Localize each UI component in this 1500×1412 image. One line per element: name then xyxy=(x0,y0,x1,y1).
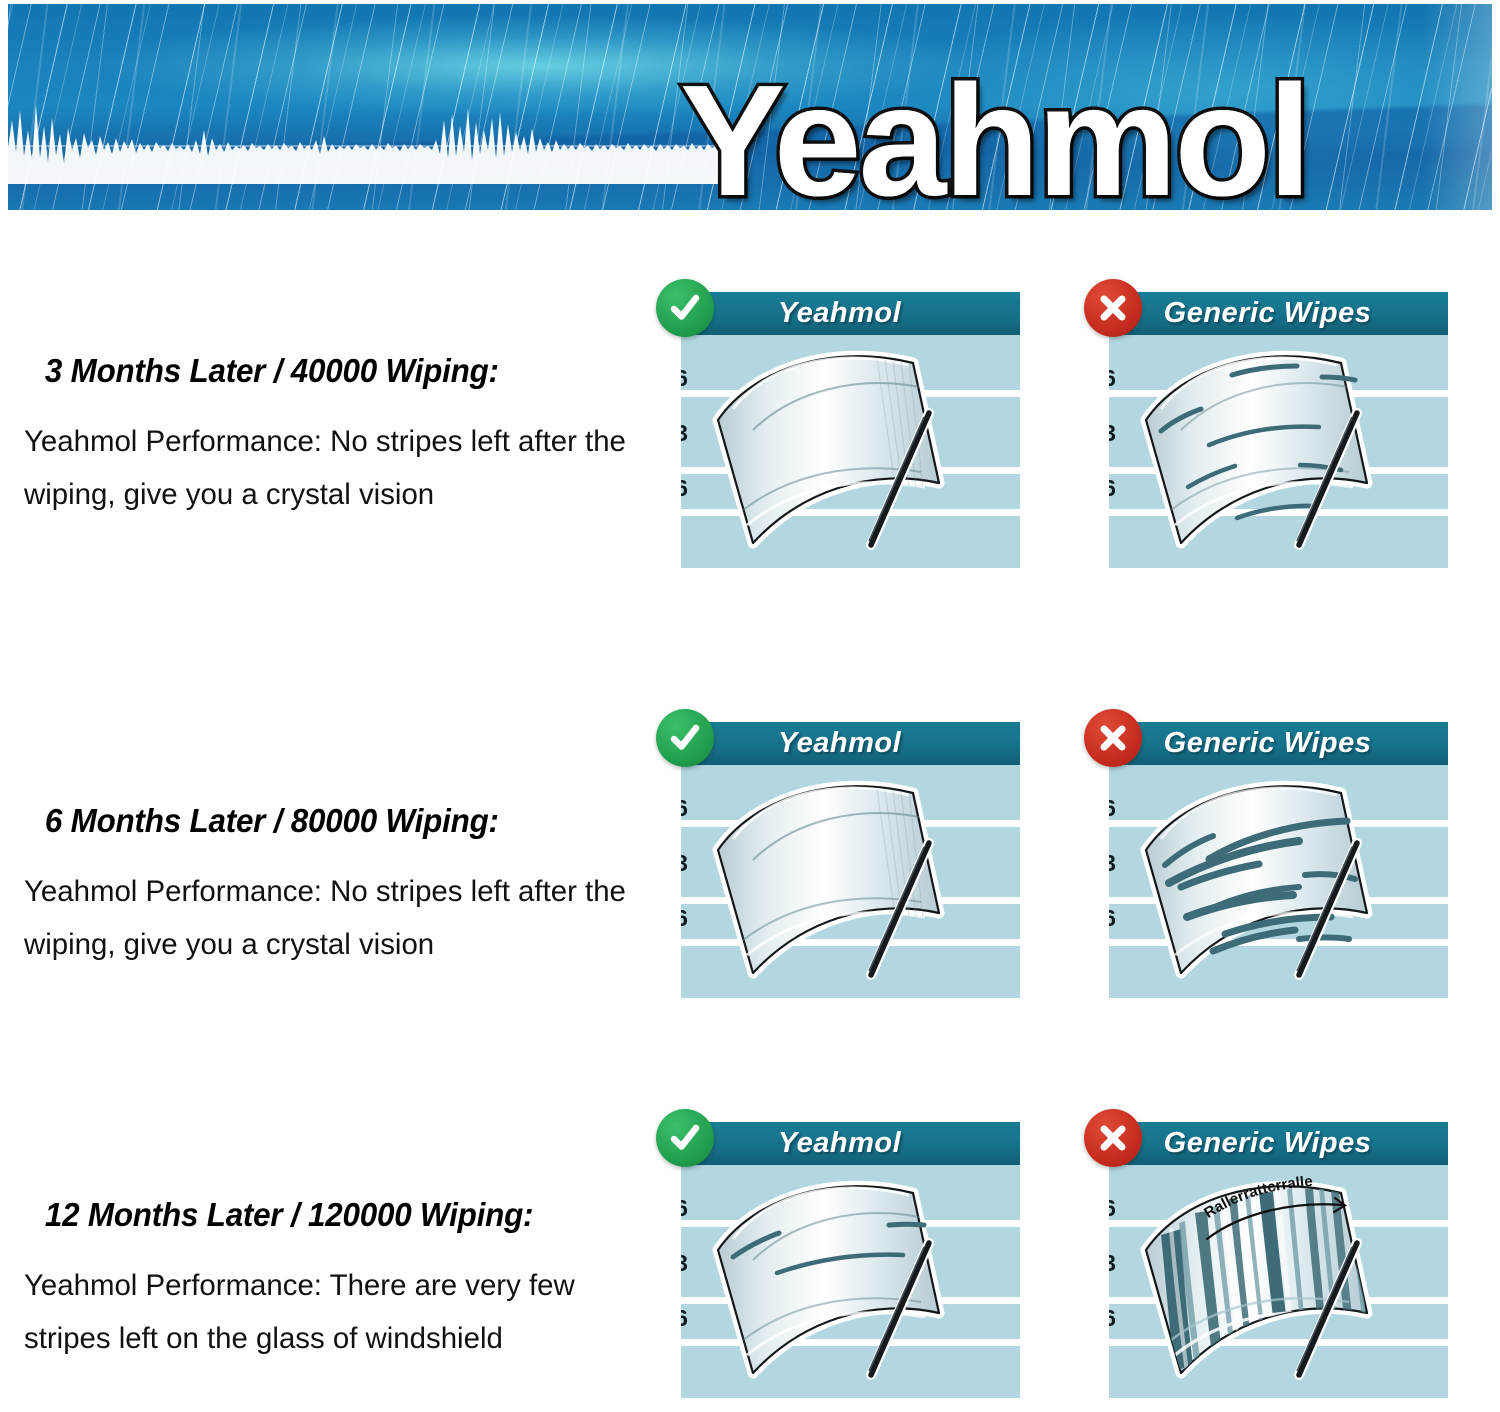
panel-pair: Yeahmol 1/6 2/3 1/6 xyxy=(652,276,1500,576)
panel-yeahmol: Yeahmol 1/6 2/3 1/6 xyxy=(652,276,1020,568)
check-icon xyxy=(656,1109,714,1167)
panel-title-generic: Generic Wipes xyxy=(1109,722,1448,765)
panel-yeahmol: Yeahmol 1/6 2/3 1/6 xyxy=(652,706,1020,998)
panel-title-generic: Generic Wipes xyxy=(1109,1122,1448,1165)
section-title: 6 Months Later / 80000 Wiping: xyxy=(24,802,632,840)
windshield-glass xyxy=(1109,765,1448,998)
cross-icon xyxy=(1084,1109,1142,1167)
infographic-page: Yeahmol Yeahmol 3 Months Later / 40000 W… xyxy=(0,0,1500,1412)
section-title: 12 Months Later / 120000 Wiping: xyxy=(24,1196,632,1234)
panel-diagram: 1/6 2/3 1/6 xyxy=(681,1165,1020,1398)
panel-generic: Generic Wipes 1/6 2/3 1/6 xyxy=(1080,1106,1448,1398)
panel-diagram: 1/6 2/3 1/6 xyxy=(1109,765,1448,998)
panel-generic: Generic Wipes 1/6 2/3 1/6 xyxy=(1080,706,1448,998)
check-icon xyxy=(656,709,714,767)
comparison-section-6-months: 6 Months Later / 80000 Wiping: Yeahmol P… xyxy=(0,706,1500,1106)
windshield-glass xyxy=(681,765,1020,998)
panel-diagram: 1/6 2/3 1/6 xyxy=(1109,1165,1448,1398)
waveform-graphic xyxy=(8,100,728,184)
section-copy: 3 Months Later / 40000 Wiping: Yeahmol P… xyxy=(24,352,664,521)
section-copy: 12 Months Later / 120000 Wiping: Yeahmol… xyxy=(24,1196,664,1365)
panel-generic: Generic Wipes 1/6 2/3 1/6 xyxy=(1080,276,1448,568)
panel-title-yeahmol: Yeahmol xyxy=(681,292,1020,335)
cross-icon xyxy=(1084,279,1142,337)
section-copy: 6 Months Later / 80000 Wiping: Yeahmol P… xyxy=(24,802,664,971)
section-body: Yeahmol Performance: No stripes left aft… xyxy=(24,866,661,971)
panel-title-yeahmol: Yeahmol xyxy=(681,722,1020,765)
section-body: Yeahmol Performance: No stripes left aft… xyxy=(24,416,661,521)
windshield-glass: Rallerrattcrralle xyxy=(1109,1165,1448,1398)
panel-diagram: 1/6 2/3 1/6 xyxy=(681,765,1020,998)
windshield-glass xyxy=(1109,335,1448,568)
windshield-glass xyxy=(681,1165,1020,1398)
panel-yeahmol: Yeahmol 1/6 2/3 1/6 xyxy=(652,1106,1020,1398)
comparison-section-3-months: 3 Months Later / 40000 Wiping: Yeahmol P… xyxy=(0,276,1500,676)
panel-title-yeahmol: Yeahmol xyxy=(681,1122,1020,1165)
section-title: 3 Months Later / 40000 Wiping: xyxy=(24,352,632,390)
panel-diagram: 1/6 2/3 1/6 xyxy=(681,335,1020,568)
panel-pair: Yeahmol 1/6 2/3 1/6 xyxy=(652,706,1500,1006)
check-icon xyxy=(656,279,714,337)
brand-wordmark-outline: Yeahmol xyxy=(680,66,1492,210)
comparison-section-12-months: 12 Months Later / 120000 Wiping: Yeahmol… xyxy=(0,1106,1500,1412)
windshield-glass xyxy=(681,335,1020,568)
panel-pair: Yeahmol 1/6 2/3 1/6 xyxy=(652,1106,1500,1406)
panel-diagram: 1/6 2/3 1/6 xyxy=(1109,335,1448,568)
brand-banner: Yeahmol Yeahmol xyxy=(8,4,1492,210)
section-body: Yeahmol Performance: There are very few … xyxy=(24,1260,661,1365)
panel-title-generic: Generic Wipes xyxy=(1109,292,1448,335)
cross-icon xyxy=(1084,709,1142,767)
